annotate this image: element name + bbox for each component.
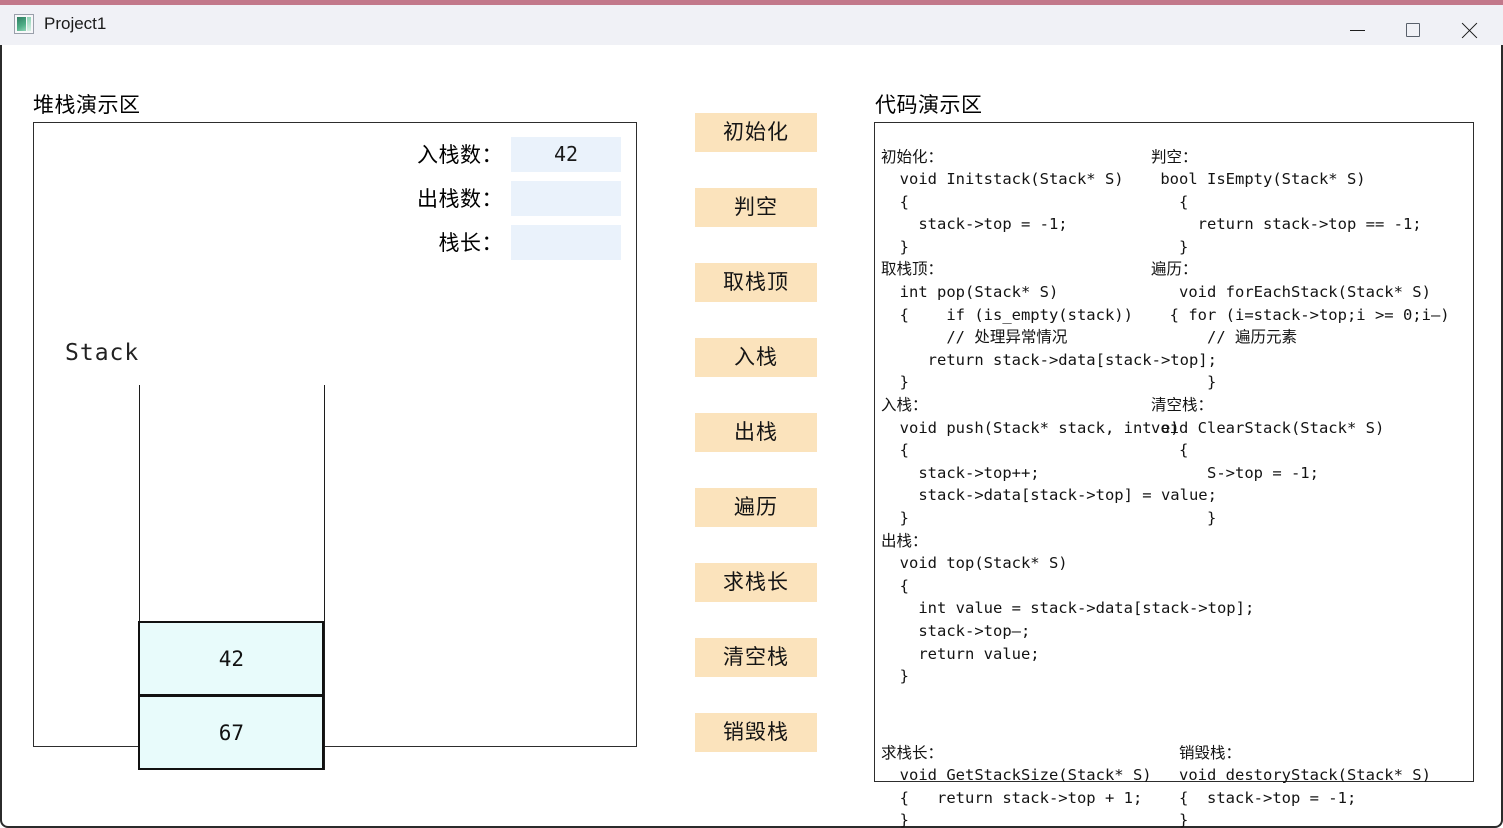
app-icon	[14, 14, 34, 34]
op-button-5[interactable]: 出栈	[695, 413, 817, 452]
close-button[interactable]	[1441, 10, 1497, 50]
op-button-4[interactable]: 入栈	[695, 338, 817, 377]
code-area-title: 代码演示区	[875, 89, 983, 119]
window-client-area: 堆栈演示区 入栈数： 42 出栈数： 栈长： Stack 4267	[0, 45, 1503, 828]
push-count-label: 入栈数：	[417, 139, 503, 169]
op-button-3[interactable]: 取栈顶	[695, 263, 817, 302]
close-icon	[1460, 21, 1479, 40]
pop-count-field[interactable]	[511, 181, 621, 216]
stack-cell: 67	[138, 695, 324, 770]
app-icon-left-shape	[17, 17, 26, 31]
op-button-1[interactable]: 初始化	[695, 113, 817, 152]
op-button-7[interactable]: 求栈长	[695, 563, 817, 602]
title-bar: Project1	[0, 0, 1503, 45]
minimize-button[interactable]	[1329, 10, 1385, 50]
op-button-6[interactable]: 遍历	[695, 488, 817, 527]
code-column-bottom-right: 销毁栈： void destoryStack(Stack* S) { stack…	[1179, 742, 1431, 828]
stack-cell: 42	[138, 621, 324, 696]
app-icon-right-shape	[27, 17, 31, 31]
stack-container: 4267	[139, 385, 325, 770]
stack-length-label: 栈长：	[439, 227, 504, 257]
pop-count-label: 出栈数：	[417, 183, 503, 213]
stack-length-field[interactable]	[511, 225, 621, 260]
operation-button-column: 初始化判空取栈顶入栈出栈遍历求栈长清空栈销毁栈	[695, 113, 817, 788]
maximize-button[interactable]	[1385, 10, 1441, 50]
title-bar-left-group: Project1	[14, 14, 106, 34]
op-button-2[interactable]: 判空	[695, 188, 817, 227]
stack-demo-panel: 入栈数： 42 出栈数： 栈长： Stack 4267	[33, 122, 637, 747]
stack-caption: Stack	[65, 340, 139, 366]
code-column-right: 判空： bool IsEmpty(Stack* S) { return stac…	[1151, 146, 1450, 530]
counter-row-pop: 出栈数：	[386, 180, 621, 216]
code-text-layer: 初始化： void Initstack(Stack* S) { stack->t…	[874, 122, 1503, 782]
op-button-9[interactable]: 销毁栈	[695, 713, 817, 752]
application-window: Project1 堆栈演示区 入栈数： 42 出栈数：	[0, 0, 1503, 828]
counter-group: 入栈数： 42 出栈数： 栈长：	[386, 136, 621, 268]
op-button-8[interactable]: 清空栈	[695, 638, 817, 677]
code-column-bottom-left: 求栈长： void GetStackSize(Stack* S) { retur…	[881, 742, 1152, 828]
window-title: Project1	[44, 14, 106, 34]
push-count-field[interactable]: 42	[511, 137, 621, 172]
stack-cell-list: 4267	[140, 622, 324, 770]
counter-row-push: 入栈数： 42	[386, 136, 621, 172]
counter-row-length: 栈长：	[386, 224, 621, 260]
maximize-icon	[1406, 23, 1420, 37]
stack-area-title: 堆栈演示区	[33, 89, 141, 119]
minimize-icon	[1350, 30, 1365, 31]
